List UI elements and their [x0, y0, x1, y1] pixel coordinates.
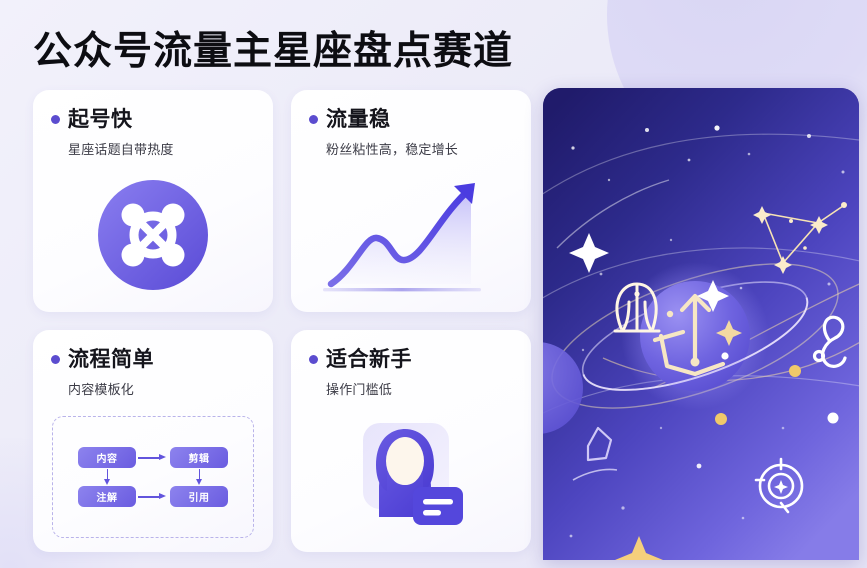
feature-card-qihaokuai[interactable]: 起号快 星座话题自带热度	[33, 90, 273, 312]
bullet-dot-icon	[309, 355, 318, 364]
space-scene-svg	[543, 88, 859, 560]
flow-node-2[interactable]: 剪辑	[170, 447, 228, 468]
feature-card-liuliangwen[interactable]: 流量稳 粉丝粘性高，稳定增长	[291, 90, 531, 312]
card-artwork	[33, 164, 273, 306]
flow-node-4[interactable]: 引用	[170, 486, 228, 507]
poster-root: 公众号流量主星座盘点赛道 起号快 星座话题自带热度	[0, 0, 867, 568]
flow-arrow-right-top-icon	[138, 453, 168, 463]
card-title: 流程简单	[68, 349, 154, 370]
flow-diagram-icon: 内容 剪辑 注解 引用	[52, 416, 254, 538]
card-title: 适合新手	[326, 349, 412, 370]
feature-card-shihexinshou[interactable]: 适合新手 操作门槛低	[291, 330, 531, 552]
flow-arrow-down-right-icon	[194, 469, 204, 486]
card-header: 流程简单	[51, 349, 255, 370]
card-artwork	[291, 404, 531, 546]
zodiac-space-illustration	[543, 88, 859, 560]
bullet-dot-icon	[51, 115, 60, 124]
card-subtitle: 粉丝粘性高，稳定增长	[326, 139, 513, 158]
card-title: 起号快	[68, 109, 133, 130]
bullet-dot-icon	[309, 115, 318, 124]
flow-node-1[interactable]: 内容	[78, 447, 136, 468]
card-title: 流量稳	[326, 109, 391, 130]
feature-card-liuchengjiandan[interactable]: 流程简单 内容模板化 内容 剪辑 注解 引用	[33, 330, 273, 552]
card-header: 适合新手	[309, 349, 513, 370]
person-message-icon	[349, 413, 473, 537]
network-nodes-icon	[95, 177, 211, 293]
feature-card-grid: 起号快 星座话题自带热度	[33, 90, 531, 552]
card-header: 流量稳	[309, 109, 513, 130]
card-subtitle: 星座话题自带热度	[68, 139, 255, 158]
card-subtitle: 操作门槛低	[326, 379, 513, 398]
card-header: 起号快	[51, 109, 255, 130]
flow-node-3[interactable]: 注解	[78, 486, 136, 507]
flow-arrow-right-bottom-icon	[138, 492, 168, 502]
flow-grid: 内容 剪辑 注解 引用	[78, 447, 228, 507]
card-subtitle: 内容模板化	[68, 379, 255, 398]
card-artwork	[291, 164, 531, 306]
page-title: 公众号流量主星座盘点赛道	[33, 20, 513, 76]
bullet-dot-icon	[51, 355, 60, 364]
flow-arrow-down-left-icon	[102, 469, 112, 486]
growth-chart-icon	[307, 176, 515, 306]
